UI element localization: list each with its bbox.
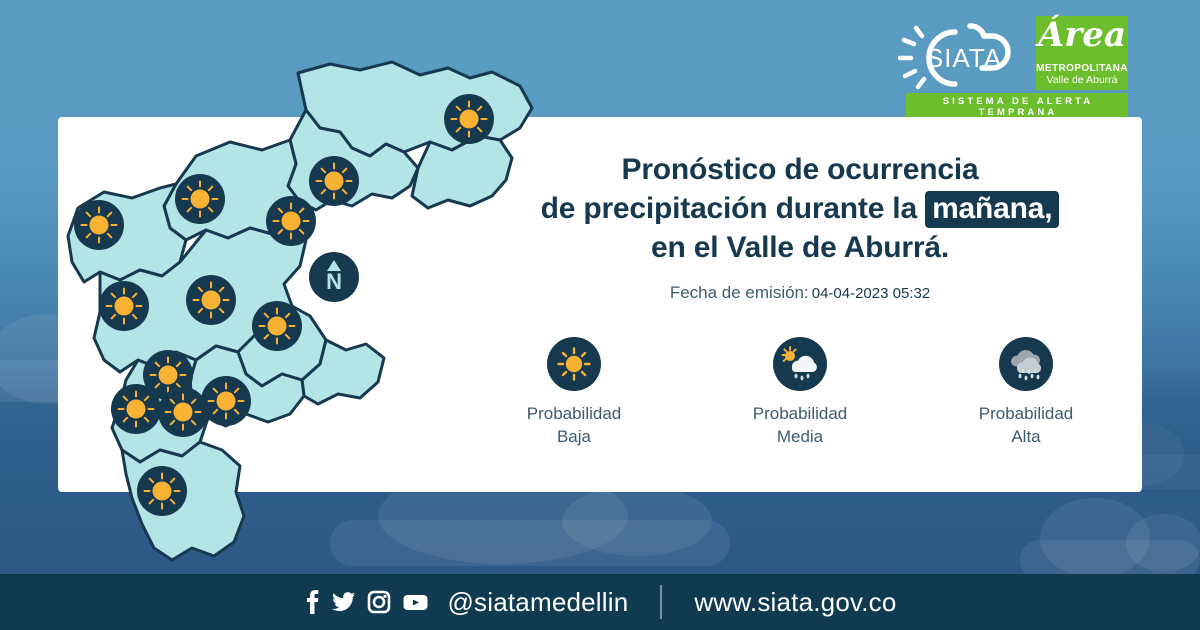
siata-logo: SIATA bbox=[898, 16, 1030, 90]
title-line-2: de precipitación durante la mañana, bbox=[500, 189, 1100, 228]
area-line1: METROPOLITANA bbox=[1036, 63, 1128, 74]
sun-disc bbox=[115, 297, 134, 316]
emission-date: Fecha de emisión:04-04-2023 05:32 bbox=[500, 283, 1100, 303]
youtube-icon[interactable] bbox=[402, 589, 429, 615]
social-icons bbox=[303, 589, 429, 615]
legend-label-line1: Probabilidad bbox=[979, 403, 1074, 426]
title-highlight-manana: mañana, bbox=[925, 191, 1059, 228]
station-marker[interactable] bbox=[137, 466, 187, 516]
station-marker[interactable] bbox=[158, 387, 208, 437]
legend-label-line2: Baja bbox=[527, 426, 622, 449]
area-line2: Valle de Aburrá bbox=[1046, 74, 1117, 86]
station-marker[interactable] bbox=[444, 94, 494, 144]
station-marker[interactable] bbox=[74, 200, 124, 250]
area-script-text: Área bbox=[1036, 18, 1128, 52]
legend-label-line2: Media bbox=[753, 426, 848, 449]
legend-label-line1: Probabilidad bbox=[527, 403, 622, 426]
legend-label-line2: Alta bbox=[979, 426, 1074, 449]
page-title: Pronóstico de ocurrencia de precipitació… bbox=[500, 150, 1100, 267]
station-marker[interactable] bbox=[175, 174, 225, 224]
station-marker[interactable] bbox=[201, 376, 251, 426]
emission-date-label: Fecha de emisión: bbox=[670, 283, 809, 302]
valle-de-aburra-map: N bbox=[58, 40, 418, 570]
legend-item-baja: Probabilidad Baja bbox=[500, 337, 648, 449]
sun-disc bbox=[460, 110, 479, 129]
twitter-icon[interactable] bbox=[331, 589, 356, 615]
forecast-panel: Pronóstico de ocurrencia de precipitació… bbox=[500, 150, 1100, 449]
emission-date-value: 04-04-2023 05:32 bbox=[812, 285, 930, 302]
legend-label-media: Probabilidad Media bbox=[753, 403, 848, 449]
footer-divider bbox=[660, 585, 662, 619]
title-line-2-text: de precipitación durante la bbox=[541, 192, 917, 225]
instagram-icon[interactable] bbox=[367, 589, 391, 615]
north-arrow-icon: N bbox=[309, 252, 359, 302]
facebook-icon[interactable] bbox=[303, 589, 320, 615]
infographic-root: SIATA Área METROPOLITANA Valle de Aburrá… bbox=[0, 0, 1200, 630]
station-marker[interactable] bbox=[111, 384, 161, 434]
legend-label-baja: Probabilidad Baja bbox=[527, 403, 622, 449]
sun-rain-cloud-icon bbox=[773, 337, 827, 391]
sun-disc bbox=[217, 392, 236, 411]
station-marker[interactable] bbox=[252, 301, 302, 351]
probability-legend: Probabilidad Baja bbox=[500, 337, 1100, 449]
legend-item-alta: Probabilidad Alta bbox=[952, 337, 1100, 449]
legend-label-alta: Probabilidad Alta bbox=[979, 403, 1074, 449]
station-marker[interactable] bbox=[309, 156, 359, 206]
legend-label-line1: Probabilidad bbox=[753, 403, 848, 426]
heavy-rain-cloud-icon bbox=[999, 337, 1053, 391]
sun-disc bbox=[282, 212, 301, 231]
station-marker[interactable] bbox=[186, 275, 236, 325]
station-marker[interactable] bbox=[99, 281, 149, 331]
station-marker[interactable] bbox=[266, 196, 316, 246]
social-handle[interactable]: @siatamedellin bbox=[447, 587, 628, 618]
sun-disc bbox=[174, 403, 193, 422]
title-line-3: en el Valle de Aburrá. bbox=[500, 228, 1100, 267]
logo-group: SIATA Área METROPOLITANA Valle de Aburrá… bbox=[898, 16, 1128, 121]
sun-disc bbox=[159, 366, 178, 385]
title-line-1: Pronóstico de ocurrencia bbox=[500, 150, 1100, 189]
sun-disc bbox=[268, 317, 287, 336]
legend-item-media: Probabilidad Media bbox=[726, 337, 874, 449]
sun-disc bbox=[90, 216, 109, 235]
area-metropolitana-logo: Área METROPOLITANA Valle de Aburrá bbox=[1036, 16, 1128, 90]
siata-wordmark: SIATA bbox=[926, 43, 1002, 73]
footer-bar: @siatamedellin www.siata.gov.co bbox=[0, 574, 1200, 630]
website-url[interactable]: www.siata.gov.co bbox=[694, 587, 896, 618]
svg-text:N: N bbox=[326, 269, 342, 294]
sun-disc bbox=[191, 190, 210, 209]
sun-icon bbox=[547, 337, 601, 391]
sun-disc bbox=[202, 291, 221, 310]
sun-disc bbox=[153, 482, 172, 501]
sun-disc bbox=[127, 400, 146, 419]
sun-disc bbox=[325, 172, 344, 191]
